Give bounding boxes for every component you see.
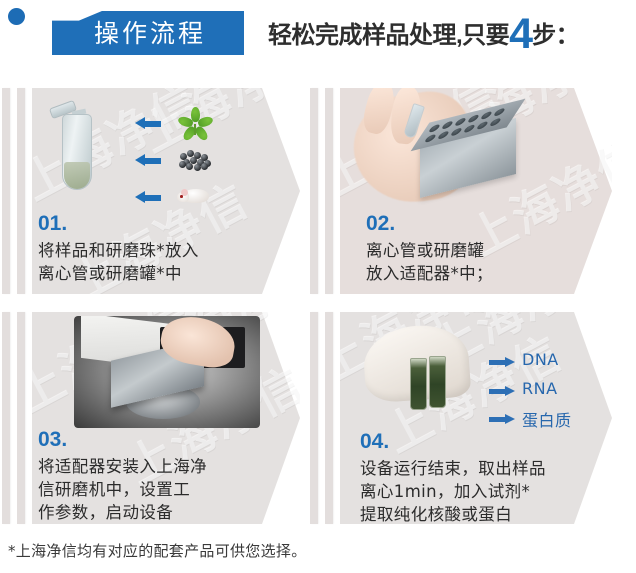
subtitle-step-count: 4 (509, 10, 532, 58)
accent-bar (325, 88, 333, 294)
leaf-icon (180, 108, 210, 136)
arrow-right-icon (489, 357, 515, 368)
panel-body: 上海净信 上海净信 上海净信 (340, 88, 612, 294)
panel-body: 上海净信 上海净信 上海净信 DNA RNA 蛋白质 04. 设备运行结束，取出… (340, 312, 612, 524)
grinding-beads-icon (178, 149, 212, 169)
installing-adapter-photo (74, 316, 260, 428)
accent-bar (310, 88, 318, 294)
tube-liquid (64, 162, 90, 189)
step-panel-02: 上海净信 上海净信 上海净信 (308, 88, 636, 294)
step-caption: 将适配器安装入上海净 信研磨机中，设置工 作参数，启动设备 (38, 455, 268, 524)
step-number: 04. (360, 430, 389, 454)
arrow-left-icon (135, 191, 161, 204)
step-number: 03. (38, 428, 67, 452)
panel-accent-bars (308, 312, 336, 524)
accent-bar (2, 88, 10, 294)
footnote-text: *上海净信均有对应的配套产品可供您选择。 (8, 540, 307, 561)
step-number: 01. (38, 212, 67, 236)
panel-body: 上海净信 上海净信 上海净信 03. 将适配器安装入上海净 信研磨机中，设置工 … (32, 312, 300, 524)
accent-bar (17, 88, 25, 294)
output-label-rna: RNA (522, 379, 558, 398)
panel-accent-bars (0, 88, 28, 294)
promo-infographic: 操作流程 轻松完成样品处理,只要4步： 上海净信 上海净信 上海净信 (0, 0, 636, 573)
header-subtitle: 轻松完成样品处理,只要4步： (268, 13, 579, 57)
subtitle-pre-text: 轻松完成样品处理,只要 (268, 22, 509, 49)
step-panel-03: 上海净信 上海净信 上海净信 03. 将适配器安装入上海净 信研磨机中，设置工 … (0, 312, 300, 524)
step-panel-01: 上海净信 上海净信 上海净信 (0, 88, 300, 294)
mouse-icon (177, 185, 213, 205)
accent-bar (17, 312, 25, 524)
panel-body: 上海净信 上海净信 上海净信 (32, 88, 300, 294)
accent-bar (325, 312, 333, 524)
sample-vial (429, 356, 446, 408)
step-caption: 离心管或研磨罐 放入适配器*中； (366, 239, 596, 285)
subtitle-post-text: 步： (532, 22, 579, 49)
hand-holding-adapter-photo (348, 88, 558, 208)
arrow-left-icon (135, 154, 161, 167)
step-number: 02. (366, 212, 395, 236)
panel-accent-bars (308, 88, 336, 294)
sample-vial (410, 358, 427, 410)
panel-accent-bars (0, 312, 28, 524)
mouse-eye (180, 195, 183, 198)
step-panel-04: 上海净信 上海净信 上海净信 DNA RNA 蛋白质 04. 设备运行结束，取出… (308, 312, 636, 524)
output-label-protein: 蛋白质 (522, 407, 572, 431)
arrow-right-icon (489, 414, 515, 425)
centrifuge-tube-icon (48, 96, 108, 196)
step-caption: 将样品和研磨珠*放入 离心管或研磨罐*中 (38, 239, 268, 285)
arrow-left-icon (135, 117, 161, 130)
result-outputs-photo (358, 324, 488, 420)
step-caption: 设备运行结束，取出样品 离心1min，加入试剂* 提取纯化核酸或蛋白 (360, 457, 605, 524)
page-title: 操作流程 (60, 16, 240, 52)
accent-bar (2, 312, 10, 524)
dot-icon (8, 8, 25, 25)
page-header: 操作流程 轻松完成样品处理,只要4步： (0, 0, 636, 70)
output-label-dna: DNA (522, 350, 559, 369)
arrow-right-icon (489, 386, 515, 397)
adapter-block (420, 118, 516, 198)
accent-bar (310, 312, 318, 524)
